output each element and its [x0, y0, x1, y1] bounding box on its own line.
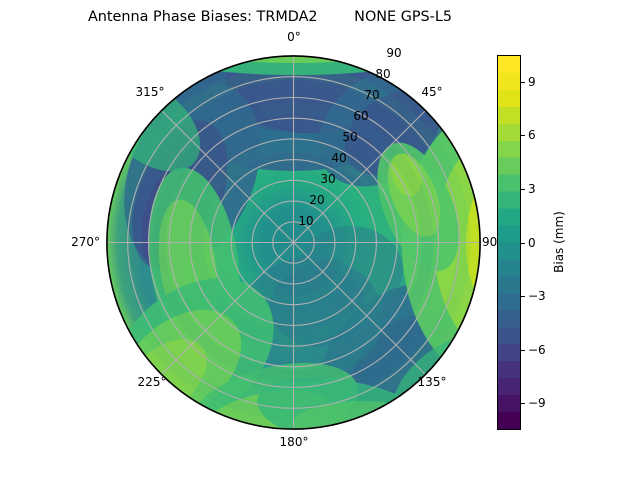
colorbar-tick-label-6: 6 — [528, 128, 536, 142]
angular-tick-225: 225° — [126, 375, 178, 389]
angular-tick-270: 270° — [48, 235, 100, 249]
angular-tick-45: 45° — [409, 85, 455, 99]
colorbar-axis-label: Bias (mm) — [552, 211, 566, 273]
colorbar-tick-mark-neg9 — [521, 403, 525, 404]
polar-grid — [107, 56, 480, 429]
radial-tick-70: 70 — [364, 88, 379, 102]
radial-tick-50: 50 — [342, 130, 357, 144]
polar-plot-axes[interactable]: 0° 45° 90 135° 180° 225° 270° 315° 10 20… — [106, 55, 481, 430]
radial-tick-30: 30 — [320, 172, 335, 186]
radial-tick-20: 20 — [309, 193, 324, 207]
colorbar-tick-label-3: 3 — [528, 182, 536, 196]
colorbar[interactable]: 9 6 3 0 −3 −6 −9 — [497, 55, 521, 430]
radial-tick-60: 60 — [353, 109, 368, 123]
colorbar-tick-label-neg6: −6 — [528, 343, 546, 357]
angular-tick-0: 0° — [274, 30, 314, 44]
colorbar-tick-mark-neg3 — [521, 296, 525, 297]
radial-tick-80: 80 — [375, 67, 390, 81]
angular-tick-315: 315° — [124, 85, 176, 99]
polar-contour-svg — [106, 55, 481, 430]
colorbar-tick-mark-neg6 — [521, 350, 525, 351]
colorbar-tick-label-9: 9 — [528, 75, 536, 89]
page-title: Antenna Phase Biases: TRMDA2 NONE GPS-L5 — [0, 9, 540, 25]
radial-tick-90: 90 — [386, 46, 401, 60]
colorbar-tick-mark-3 — [521, 189, 525, 190]
radial-tick-40: 40 — [331, 151, 346, 165]
colorbar-tick-label-0: 0 — [528, 236, 536, 250]
figure-canvas: Antenna Phase Biases: TRMDA2 NONE GPS-L5 — [0, 0, 640, 480]
radial-tick-10: 10 — [298, 214, 313, 228]
angular-tick-135: 135° — [406, 375, 458, 389]
angular-tick-180: 180° — [268, 435, 320, 449]
colorbar-tick-mark-9 — [521, 82, 525, 83]
colorbar-gradient — [497, 55, 521, 430]
colorbar-tick-label-neg9: −9 — [528, 396, 546, 410]
colorbar-tick-mark-6 — [521, 135, 525, 136]
colorbar-tick-label-neg3: −3 — [528, 289, 546, 303]
colorbar-tick-mark-0 — [521, 243, 525, 244]
